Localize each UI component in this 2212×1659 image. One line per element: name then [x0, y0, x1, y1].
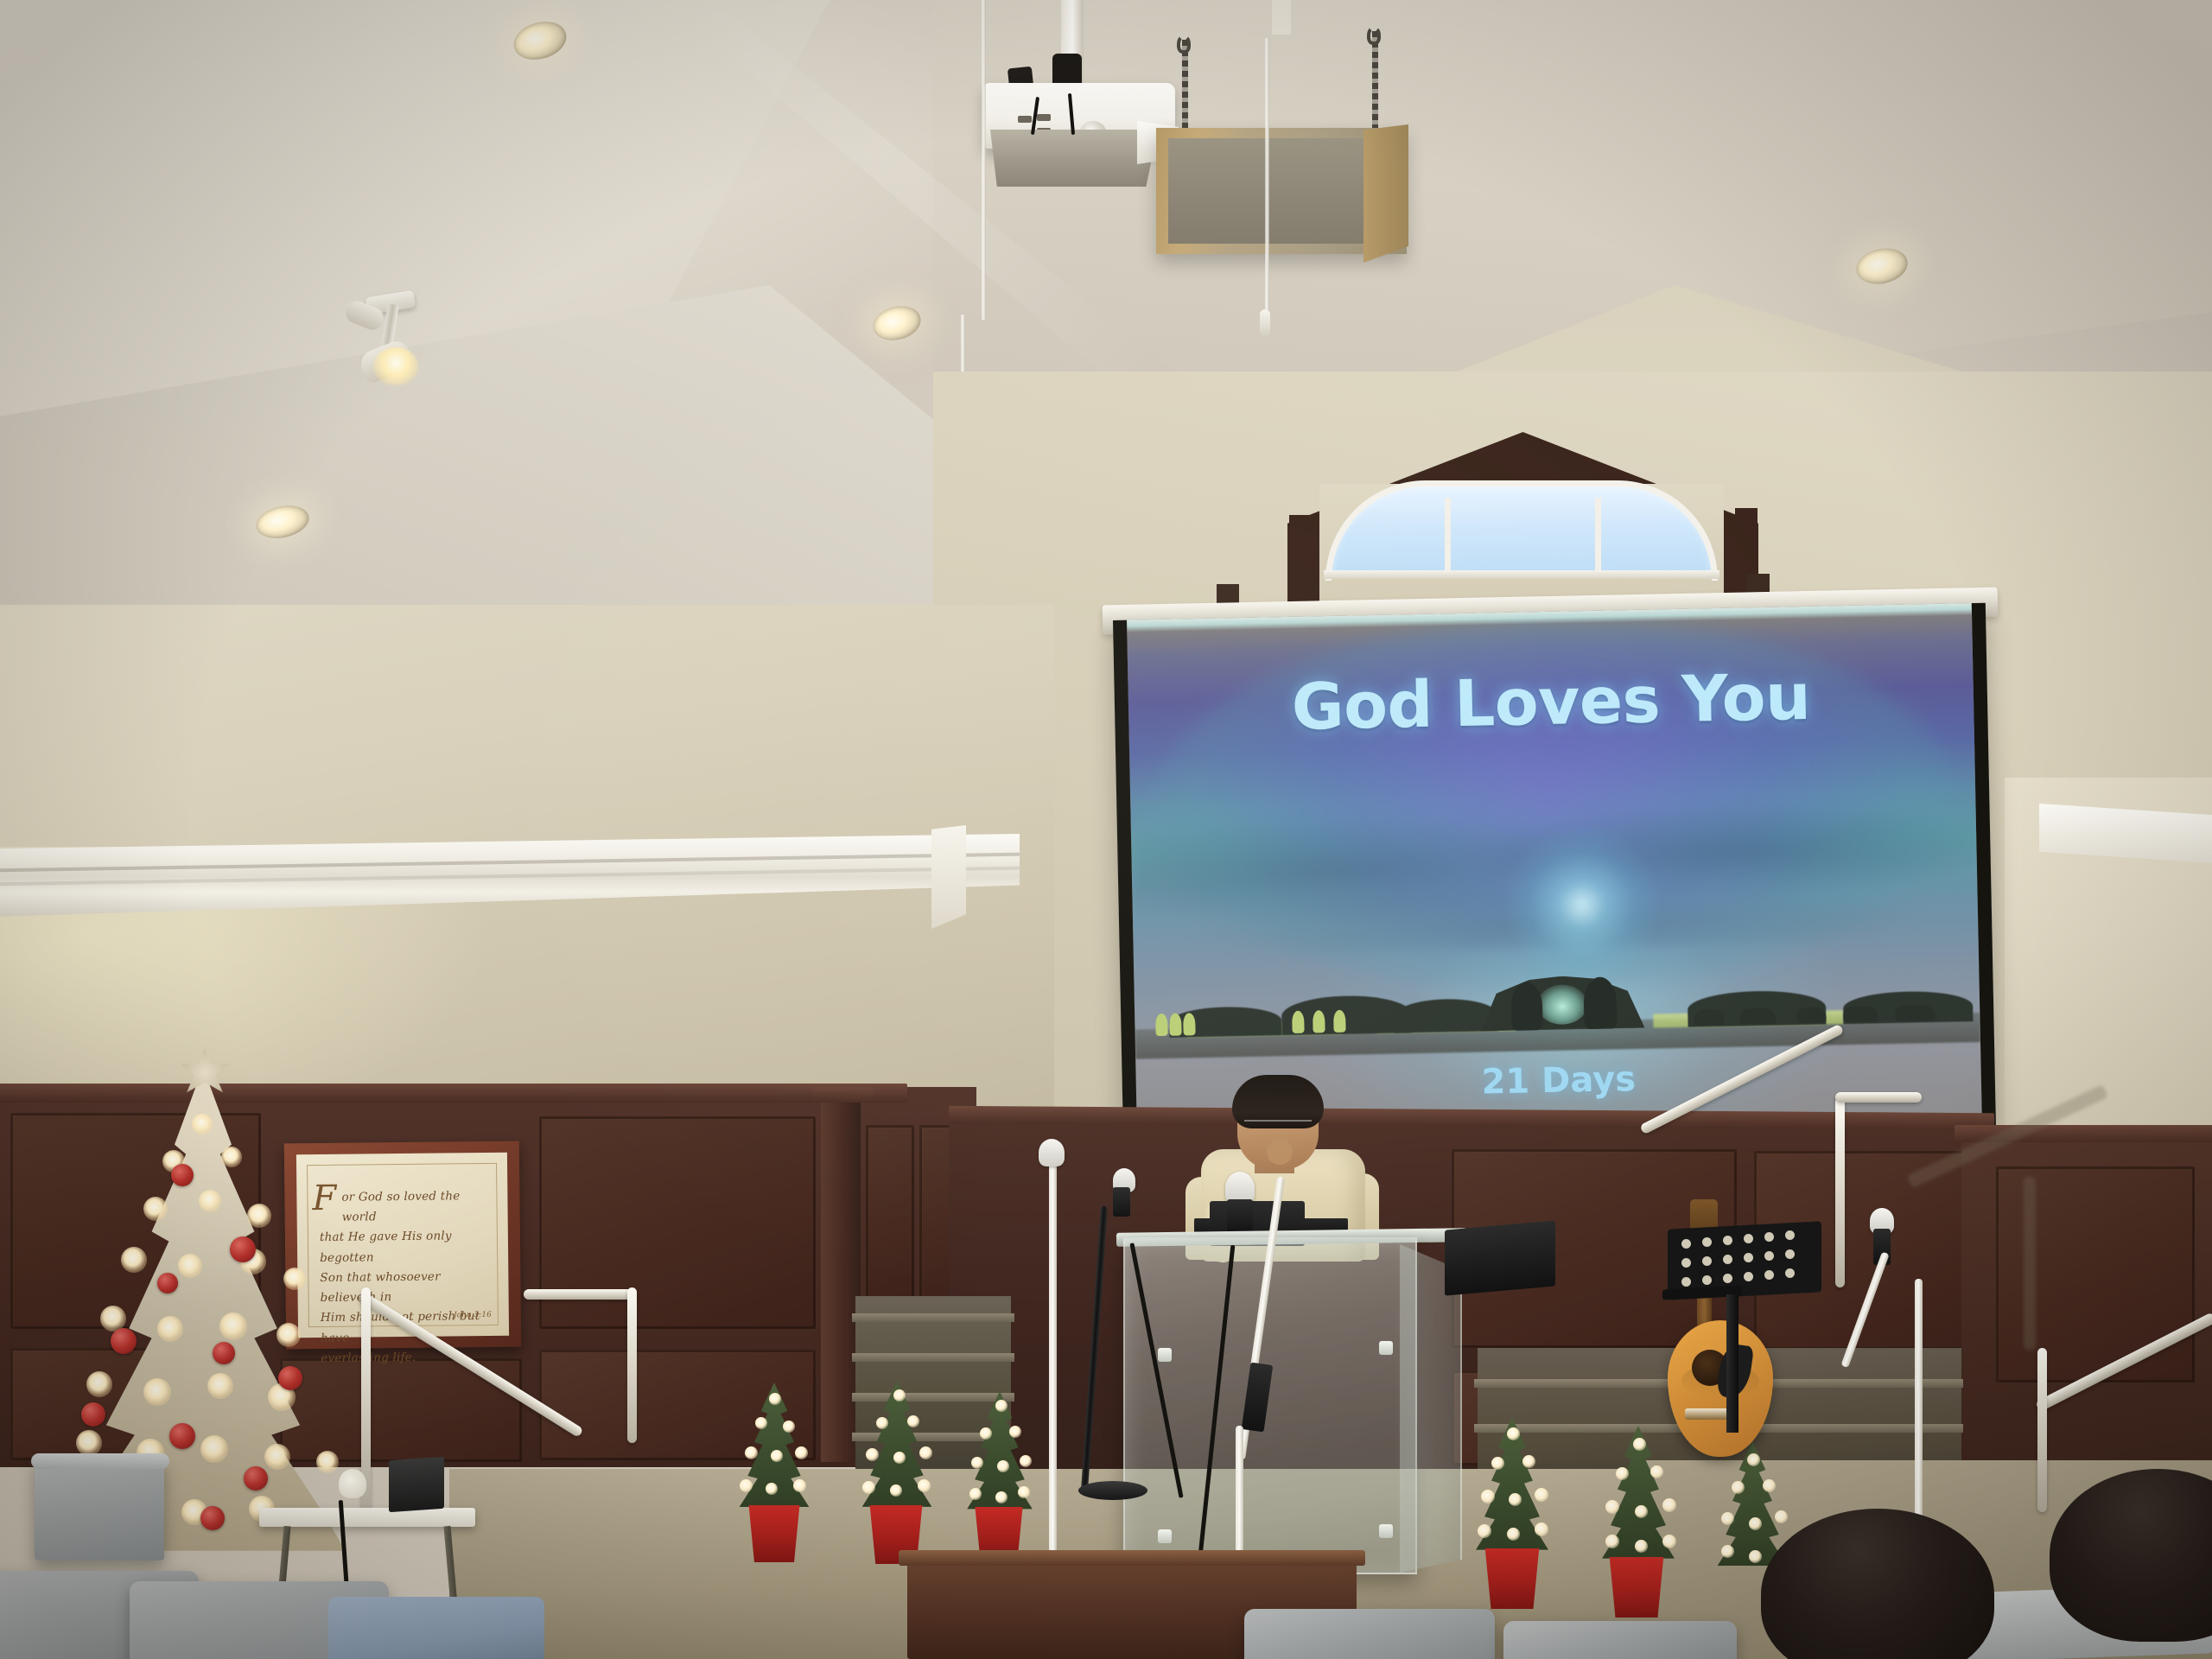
mini-tree-light — [971, 1457, 983, 1469]
window-sill — [1324, 570, 1719, 579]
wainscot-post-cap — [812, 1087, 873, 1103]
tree-light — [192, 1114, 213, 1135]
music-stand-post — [1726, 1294, 1738, 1433]
mini-tree-light — [1605, 1500, 1619, 1514]
window-mullion — [1445, 498, 1451, 577]
nativity-silhouette — [1134, 964, 1980, 1059]
music-stand-perforation — [1744, 1272, 1753, 1281]
tree-ornament — [244, 1466, 268, 1491]
mini-tree-light — [1635, 1540, 1648, 1553]
crown-molding-return — [931, 825, 966, 929]
step-tread — [852, 1353, 1014, 1362]
mini-tree-light — [1650, 1465, 1663, 1478]
nativity-sheep — [1843, 1006, 1878, 1022]
music-stand-perforation — [1702, 1256, 1712, 1266]
mini-tree-light — [1775, 1510, 1788, 1523]
wall-panel-narrow — [866, 1125, 914, 1306]
microphone-body — [1113, 1187, 1130, 1217]
laptop[interactable] — [389, 1457, 444, 1512]
speaker-side-panel — [1363, 124, 1408, 263]
mini-tree-light — [1763, 1479, 1776, 1492]
music-stand-perforation — [1764, 1251, 1774, 1261]
mini-tree-light — [919, 1446, 932, 1459]
verse-line: Son that whosoever believeth in — [320, 1267, 493, 1309]
mini-tree-light — [766, 1483, 778, 1495]
ceiling-tab — [1272, 0, 1291, 35]
mini-tree-light — [793, 1479, 806, 1492]
tree-light — [283, 1268, 306, 1290]
mini-tree-light — [1481, 1490, 1495, 1503]
mini-christmas-tree — [1595, 1426, 1681, 1564]
projection-screen[interactable]: God Loves You — [1113, 603, 1996, 1139]
mini-tree-light — [1662, 1498, 1676, 1512]
tree-light — [143, 1378, 171, 1406]
handrail-cr-top[interactable] — [1835, 1092, 1922, 1103]
mini-tree-light — [862, 1481, 875, 1494]
mini-tree-pot — [1607, 1557, 1666, 1618]
mini-tree-light — [769, 1393, 781, 1405]
guitar-bridge — [1685, 1408, 1732, 1420]
speaker-hook-right — [1367, 26, 1381, 45]
speaker-chain-right — [1372, 31, 1378, 128]
mini-tree-light — [1491, 1457, 1504, 1470]
nativity-sheep — [1796, 1007, 1826, 1024]
tree-light — [276, 1323, 301, 1347]
tree-light — [121, 1247, 147, 1273]
mini-tree-light — [795, 1446, 808, 1459]
mini-tree-light — [1633, 1438, 1646, 1451]
speaker-cord-handle[interactable] — [1260, 309, 1270, 335]
nativity-cypress — [1313, 1010, 1325, 1033]
folding-table — [259, 1508, 475, 1527]
preacher-glasses — [1244, 1120, 1312, 1132]
tree-light — [219, 1313, 247, 1340]
music-stand-perforation — [1681, 1277, 1691, 1287]
music-stand-perforation — [1785, 1249, 1795, 1259]
tree-ornament — [111, 1328, 137, 1354]
pulpit[interactable] — [1123, 1237, 1417, 1574]
mini-tree-light — [1018, 1486, 1030, 1498]
nativity-sheep — [1895, 1005, 1935, 1021]
mini-tree-light — [745, 1446, 758, 1459]
pull-cord[interactable] — [982, 0, 986, 320]
communion-table-top — [899, 1550, 1365, 1566]
mini-tree-light — [1749, 1550, 1762, 1563]
tree-light — [221, 1147, 242, 1167]
pulpit-standoff — [1379, 1524, 1393, 1538]
projector-vent — [1037, 114, 1051, 121]
mini-tree-pot — [747, 1505, 802, 1562]
tree-light — [207, 1373, 233, 1399]
mic-stand-base — [1078, 1481, 1147, 1500]
tree-ornament — [200, 1506, 225, 1530]
nativity-sheep — [1739, 1008, 1776, 1025]
nativity-cypress — [1155, 1014, 1168, 1036]
mini-tree-light — [755, 1417, 767, 1429]
mini-tree-light — [907, 1415, 919, 1427]
projected-slide: God Loves You — [1127, 603, 1982, 1139]
nativity-cypress — [1169, 1014, 1182, 1036]
desk-lamp-icon — [339, 1469, 366, 1498]
sanctuary-photo: God Loves You — [0, 0, 2212, 1659]
handrail-right-post[interactable] — [2037, 1348, 2047, 1512]
tree-light — [264, 1444, 290, 1470]
mini-tree-light — [980, 1427, 992, 1440]
handrail-shadow-post — [2024, 1177, 2036, 1350]
tree-light — [199, 1190, 221, 1212]
mini-tree-light — [1522, 1455, 1535, 1468]
tree-light — [157, 1316, 183, 1342]
mini-tree-light — [740, 1479, 753, 1492]
pulpit-standoff — [1379, 1341, 1393, 1355]
pulpit-standoff — [1158, 1348, 1172, 1362]
music-stand-perforation — [1785, 1230, 1795, 1240]
projector-vent — [1018, 116, 1032, 123]
tree-light — [86, 1371, 112, 1397]
music-stand-perforation — [1744, 1234, 1753, 1243]
chair[interactable] — [1244, 1609, 1495, 1659]
speaker-hook-left — [1177, 35, 1191, 54]
mini-christmas-tree — [1469, 1417, 1555, 1555]
nativity-sheep — [1694, 1009, 1724, 1026]
music-stand-perforation — [1681, 1258, 1691, 1268]
tree-light — [247, 1204, 271, 1228]
mini-tree-light — [1020, 1455, 1032, 1467]
projector-underside — [990, 130, 1158, 187]
mini-tree-light — [1662, 1535, 1676, 1548]
handrail-left-upper[interactable] — [524, 1289, 636, 1300]
mini-tree-light — [1535, 1522, 1548, 1536]
preacher-hand — [1267, 1139, 1293, 1165]
chair-backrest-top — [31, 1453, 169, 1469]
mini-tree-light — [1721, 1545, 1734, 1558]
floor-monitor-speaker — [1445, 1220, 1555, 1295]
mini-tree-light — [1605, 1535, 1619, 1548]
tree-ornament — [278, 1366, 302, 1390]
speaker-pull-cord[interactable] — [1265, 38, 1269, 323]
arched-window-frame — [1325, 480, 1718, 581]
mini-tree-light — [997, 1460, 1009, 1472]
mini-tree-light — [1635, 1505, 1648, 1518]
mini-tree-light — [1478, 1524, 1491, 1538]
tree-light — [316, 1451, 339, 1473]
mini-tree-light — [1747, 1453, 1760, 1466]
mini-tree-light — [969, 1488, 982, 1500]
step-tread — [852, 1313, 1014, 1322]
mini-tree-light — [995, 1491, 1007, 1503]
mini-tree-light — [1509, 1493, 1522, 1506]
tree-ornament — [213, 1342, 235, 1364]
music-stand-perforation — [1723, 1236, 1732, 1245]
handrail-cr-post[interactable] — [1835, 1097, 1845, 1287]
mini-tree-light — [1009, 1426, 1021, 1438]
nativity-cypress — [1183, 1013, 1196, 1035]
tree-light — [200, 1435, 228, 1463]
mini-tree-light — [1721, 1512, 1734, 1525]
tree-ornament — [171, 1164, 194, 1186]
music-stand-perforation — [1764, 1232, 1774, 1242]
mini-christmas-tree — [855, 1381, 938, 1512]
mini-tree-light — [995, 1400, 1007, 1412]
music-stand-perforation — [1785, 1268, 1795, 1278]
mini-tree-light — [783, 1421, 795, 1433]
nativity-cypress — [1333, 1010, 1346, 1033]
mini-christmas-tree — [961, 1391, 1039, 1514]
music-stand-perforation — [1723, 1255, 1732, 1264]
music-stand-perforation — [1723, 1274, 1732, 1283]
mini-tree-light — [1507, 1528, 1520, 1541]
tree-light — [178, 1254, 202, 1278]
mini-tree-light — [1535, 1488, 1548, 1502]
tree-ornament — [230, 1236, 256, 1262]
mini-tree-light — [918, 1479, 931, 1492]
tree-ornament — [81, 1402, 105, 1427]
mini-tree-light — [1507, 1427, 1520, 1440]
music-stand-perforation — [1764, 1270, 1774, 1280]
chair[interactable] — [35, 1457, 164, 1560]
microphone-body — [1227, 1199, 1253, 1234]
mini-tree-light — [893, 1452, 906, 1464]
nativity-cypress — [1292, 1011, 1305, 1033]
mini-tree-light — [893, 1389, 906, 1402]
nativity-figure-mary — [1510, 982, 1542, 1031]
mini-tree-light — [1749, 1517, 1762, 1530]
pulpit-standoff — [1158, 1529, 1172, 1543]
tree-light — [76, 1430, 102, 1456]
music-stand-perforation — [1681, 1239, 1691, 1249]
mini-tree-light — [771, 1450, 783, 1462]
chair[interactable] — [1503, 1621, 1737, 1659]
mini-tree-pot — [1483, 1548, 1541, 1609]
tree-ornament — [169, 1423, 195, 1449]
mini-tree-light — [866, 1448, 879, 1461]
handrail-left-post2[interactable] — [627, 1287, 637, 1443]
chair-blue[interactable] — [328, 1597, 544, 1659]
track-light-beam — [373, 347, 418, 385]
nativity-figure-joseph — [1583, 976, 1617, 1029]
mini-tree-light — [1616, 1467, 1629, 1480]
music-stand-perforation — [1702, 1275, 1712, 1285]
mini-tree-light — [1732, 1481, 1745, 1494]
mini-tree-light — [876, 1417, 888, 1429]
music-stand-perforation — [1744, 1253, 1753, 1262]
verse-reference: John 3:16 — [454, 1311, 492, 1319]
tree-light — [143, 1197, 168, 1221]
mini-tree-light — [890, 1484, 902, 1497]
music-stand-perforation — [1702, 1237, 1712, 1247]
tree-ornament — [157, 1273, 178, 1294]
window-mullion — [1595, 498, 1601, 577]
microphone-icon[interactable] — [1039, 1139, 1065, 1166]
mini-christmas-tree — [733, 1382, 816, 1512]
